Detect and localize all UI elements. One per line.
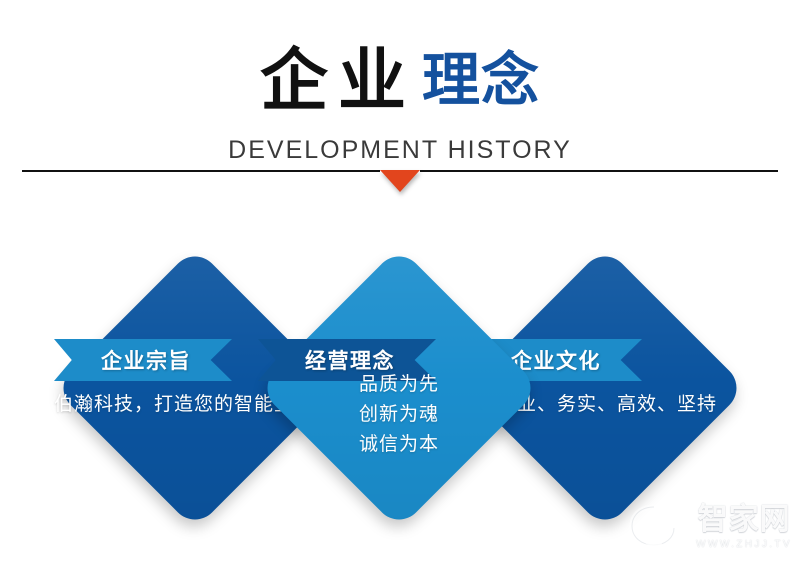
page-root: 企业理念 DEVELOPMENT HISTORY 企业宗旨 伯瀚科技，打造您的智… — [0, 0, 800, 567]
diamond-shape — [258, 247, 541, 530]
ribbon-label: 经营理念 — [299, 345, 395, 375]
ribbon-banner: 企业宗旨 — [54, 339, 232, 381]
ribbon-label: 企业宗旨 — [95, 345, 191, 375]
page-title-accent: 理念 — [422, 46, 540, 114]
ribbon-banner: 经营理念 — [258, 339, 436, 381]
divider-rule-left — [22, 170, 380, 172]
divider-rule-right — [420, 170, 778, 172]
header-divider — [0, 170, 800, 204]
page-header: 企业理念 DEVELOPMENT HISTORY — [0, 0, 800, 210]
page-title-primary: 企业 — [260, 42, 422, 121]
diamond-card-group: 企业宗旨 伯瀚科技，打造您的智能生活！ 经营理念 品质为先 创新为魂 诚信为本 … — [0, 245, 800, 545]
diamond-card-jingying-linian[interactable]: 经营理念 品质为先 创新为魂 诚信为本 — [272, 261, 526, 515]
page-subtitle: DEVELOPMENT HISTORY — [0, 136, 800, 165]
page-title: 企业理念 — [0, 48, 800, 116]
triangle-down-icon — [380, 170, 420, 192]
